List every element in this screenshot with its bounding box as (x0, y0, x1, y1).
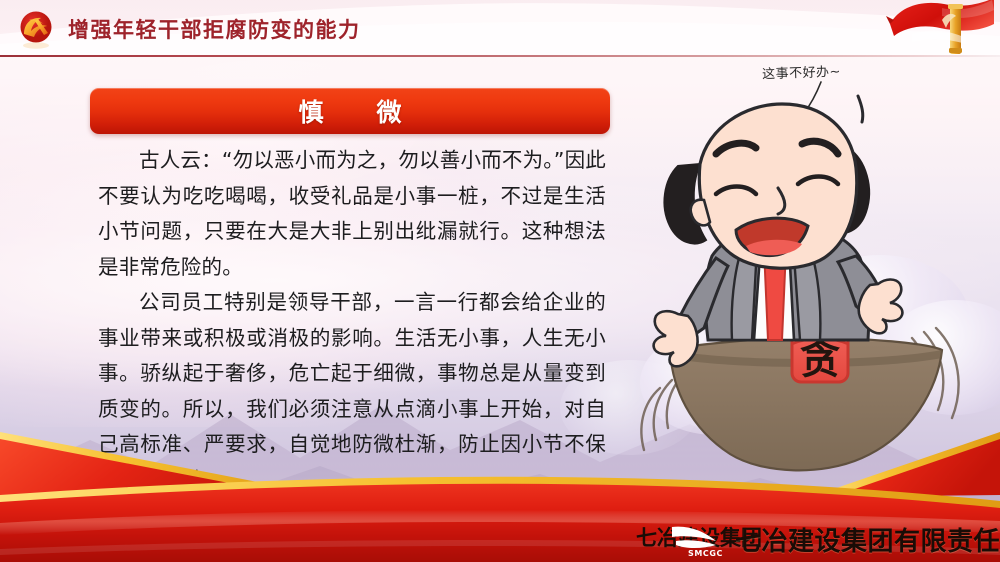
paragraph-1: 古人云：“勿以恶小而为之，勿以善小而不为。”因此不要认为吃吃喝喝，收受礼品是小事… (98, 143, 606, 285)
company-name: 七冶建设集团有限责任公司 (735, 521, 1000, 558)
header-divider (0, 55, 1000, 57)
presentation-slide: 增强年轻干部拒腐防变的能力 慎 微 古人云：“勿以恶小而为之，勿 (0, 0, 1000, 562)
section-heading-label: 慎 微 (284, 93, 415, 129)
section-heading-banner: 慎 微 (90, 88, 610, 134)
character-head (664, 96, 869, 268)
red-flag-monument-icon (882, 0, 1000, 60)
company-logo-subtext: SMCGC (688, 549, 723, 558)
page-title: 增强年轻干部拒腐防变的能力 (68, 14, 361, 44)
cpc-hammer-sickle-icon (14, 10, 62, 50)
